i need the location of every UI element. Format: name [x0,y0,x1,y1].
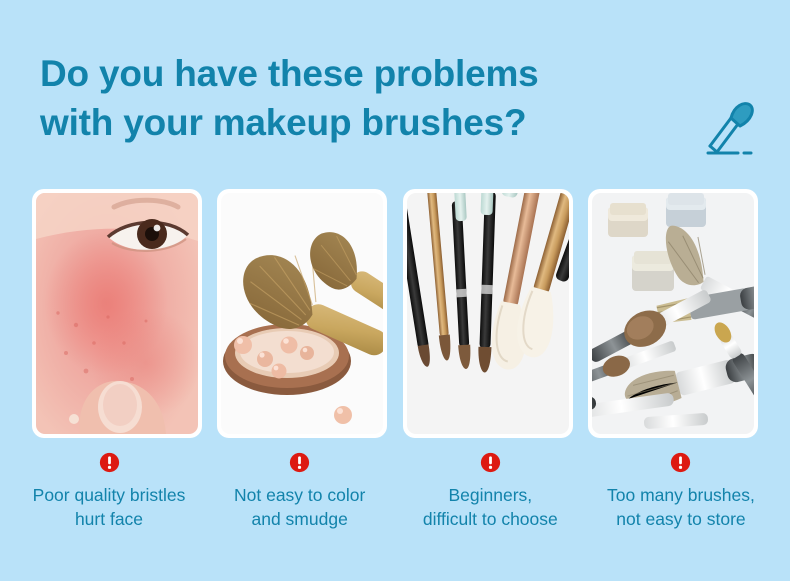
photo-many-brushes-row [407,193,569,434]
caption-text-3: Beginners, difficult to choose [423,484,558,531]
page-title-line-2: with your makeup brushes? [40,99,660,148]
caption-group-4: Too many brushes, not easy to store [588,452,774,531]
problem-caption-row: Poor quality bristles hurt face Not easy… [16,452,774,531]
problem-photo-row [32,189,758,438]
caption-group-2: Not easy to color and smudge [207,452,393,531]
caption-group-3: Beginners, difficult to choose [397,452,583,531]
caption-text-1: Poor quality bristles hurt face [33,484,186,531]
alert-exclamation-icon [289,452,310,473]
problem-card-1 [32,189,202,438]
caption-text-4: Too many brushes, not easy to store [607,484,755,531]
makeup-brush-icon [700,96,758,158]
photo-brush-on-powder-compact [221,193,383,434]
page-title-line-1: Do you have these problems [40,50,660,99]
alert-exclamation-icon [670,452,691,473]
problem-card-2 [217,189,387,438]
page-title: Do you have these problems with your mak… [40,50,660,148]
photo-irritated-skin-closeup [36,193,198,434]
alert-exclamation-icon [480,452,501,473]
promo-banner: Do you have these problems with your mak… [0,0,790,581]
caption-group-1: Poor quality bristles hurt face [16,452,202,531]
alert-exclamation-icon [99,452,120,473]
problem-card-3 [403,189,573,438]
problem-card-4 [588,189,758,438]
caption-text-2: Not easy to color and smudge [234,484,365,531]
photo-scattered-brushes-and-pots [592,193,754,434]
